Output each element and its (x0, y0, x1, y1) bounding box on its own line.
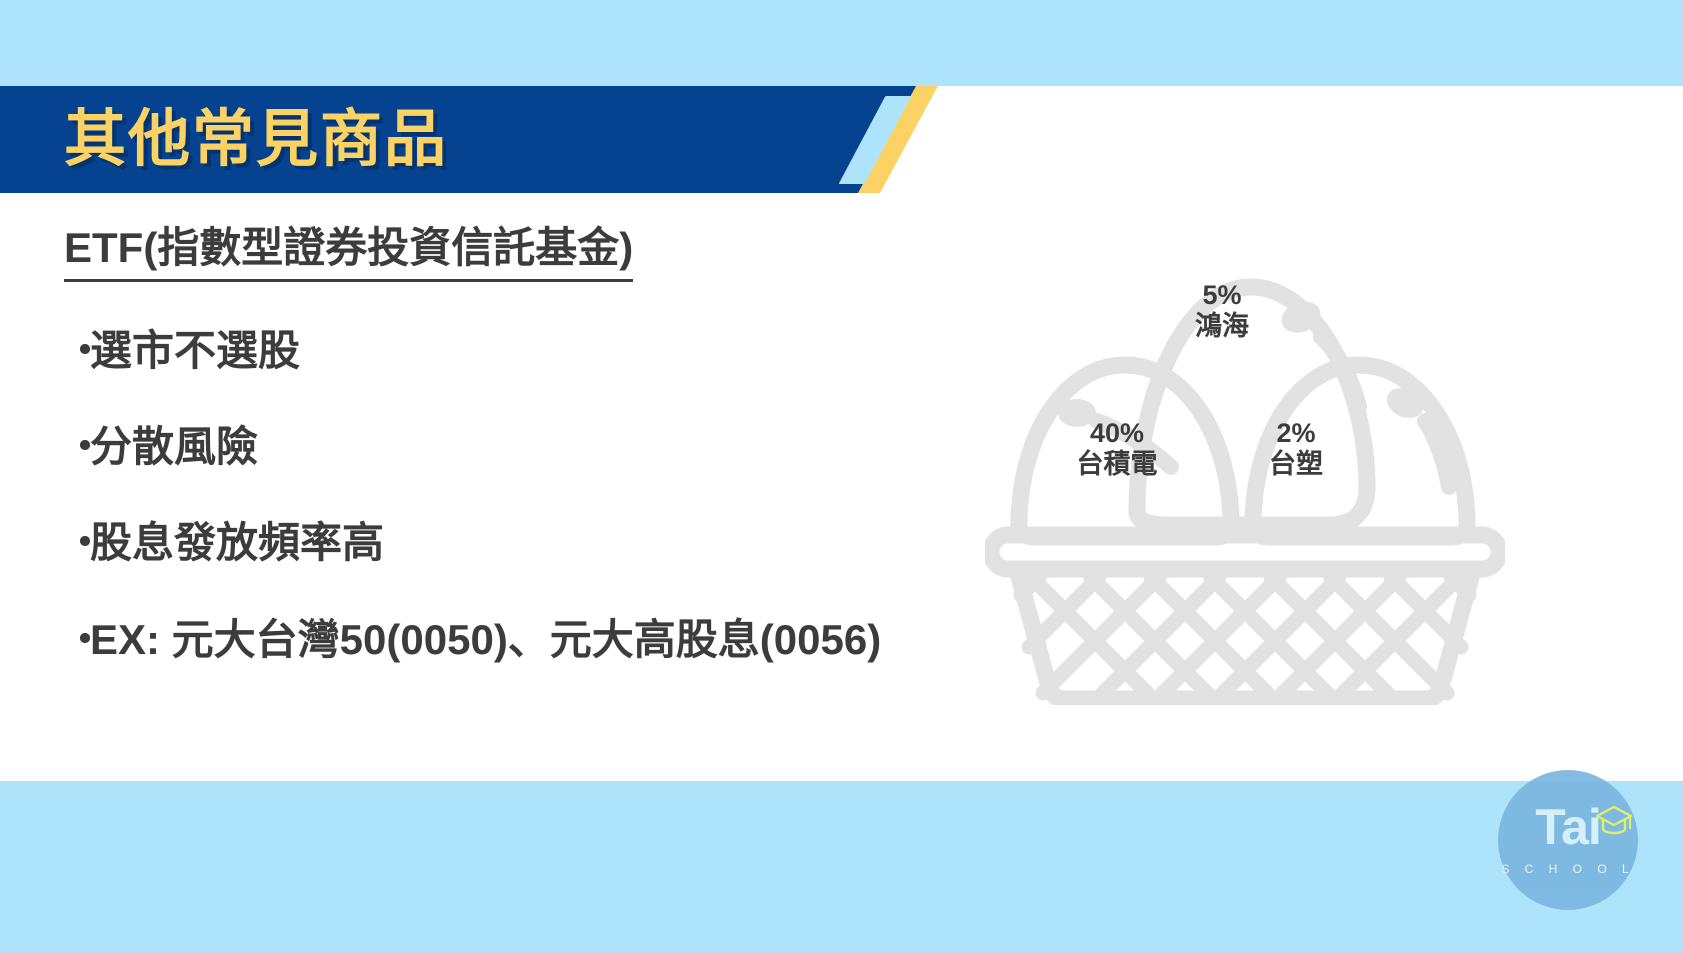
egg-percent: 40% (1057, 418, 1177, 449)
section-subheading: ETF(指數型證券投資信託基金) (64, 222, 633, 282)
list-item: ・ 選市不選股 (64, 326, 1064, 376)
egg-company: 台塑 (1241, 449, 1351, 480)
egg-label-fpc: 2% 台塑 (1241, 418, 1351, 480)
list-item-label: 分散風險 (90, 422, 258, 472)
brand-tagline: S C H O O L (1498, 862, 1638, 876)
title-banner: 其他常見商品 (0, 86, 940, 193)
egg-company: 台積電 (1057, 449, 1177, 480)
graduation-cap-icon (1594, 804, 1634, 836)
list-item-label: EX: 元大台灣50(0050)、元大高股息(0056) (90, 615, 881, 665)
bullet-dot-icon: ・ (64, 326, 90, 376)
basket-illustration: 5% 鴻海 40% 台積電 2% 台塑 (985, 225, 1505, 705)
brand-logo-inner: Tai S C H O O L (1498, 770, 1638, 910)
page-title: 其他常見商品 (64, 109, 448, 171)
list-item: ・ 分散風險 (64, 422, 1064, 472)
list-item-label: 選市不選股 (90, 326, 300, 376)
top-color-band (0, 0, 1683, 86)
bullet-dot-icon: ・ (64, 518, 90, 568)
list-item: ・ EX: 元大台灣50(0050)、元大高股息(0056) (64, 615, 1064, 665)
bullet-dot-icon: ・ (64, 422, 90, 472)
list-item: ・ 股息發放頻率高 (64, 518, 1064, 568)
egg-percent: 2% (1241, 418, 1351, 449)
list-item-label: 股息發放頻率高 (90, 518, 384, 568)
bottom-color-band (0, 781, 1683, 953)
egg-company: 鴻海 (1167, 311, 1277, 342)
egg-label-tsmc: 40% 台積電 (1057, 418, 1177, 480)
brand-logo: Tai S C H O O L (1498, 770, 1638, 910)
egg-percent: 5% (1167, 280, 1277, 311)
slide-content: ETF(指數型證券投資信託基金) ・ 選市不選股 ・ 分散風險 ・ 股息發放頻率… (64, 222, 1064, 711)
egg-label-hon-hai: 5% 鴻海 (1167, 280, 1277, 342)
bullet-list: ・ 選市不選股 ・ 分散風險 ・ 股息發放頻率高 ・ EX: 元大台灣50(00… (64, 326, 1064, 666)
bullet-dot-icon: ・ (64, 615, 90, 665)
